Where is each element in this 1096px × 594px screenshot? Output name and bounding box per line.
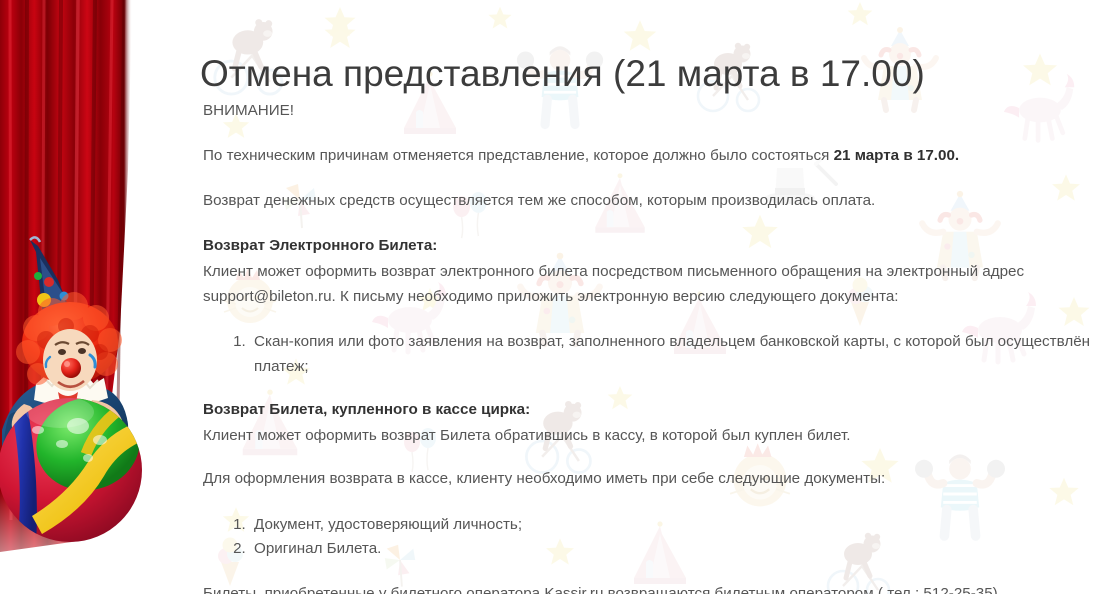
- cancellation-notice-page: Отмена представления (21 марта в 17.00) …: [0, 0, 1096, 594]
- list-item: Скан-копия или фото заявления на возврат…: [250, 329, 1096, 379]
- intro-date-bold: 21 марта в 17.00.: [834, 147, 960, 164]
- eticket-section-body: Клиент может оформить возврат электронно…: [203, 259, 1096, 309]
- page-title: Отмена представления (21 марта в 17.00): [200, 51, 1096, 97]
- intro-text: По техническим причинам отменяется предс…: [203, 147, 834, 164]
- boxoffice-document-list: Документ, удостоверяющий личность; Ориги…: [203, 513, 1096, 561]
- eticket-body-line-2: support@bileton.ru. К письму необходимо …: [203, 288, 899, 305]
- eticket-document-list: Скан-копия или фото заявления на возврат…: [203, 329, 1096, 379]
- intro-paragraph: По техническим причинам отменяется предс…: [203, 145, 1096, 167]
- eticket-body-line-1: Клиент может оформить возврат электронно…: [203, 263, 1024, 280]
- list-item: Документ, удостоверяющий личность;: [250, 513, 1096, 537]
- boxoffice-section-body: Клиент может оформить возврат Билета обр…: [203, 423, 1096, 448]
- boxoffice-section-heading: Возврат Билета, купленного в кассе цирка…: [203, 399, 1096, 421]
- operator-note: Билеты, приобретенные у билетного операт…: [203, 583, 1096, 594]
- notice-body: ВНИМАНИЕ! По техническим причинам отменя…: [203, 100, 1096, 594]
- boxoffice-body-line-1: Клиент может оформить возврат Билета обр…: [203, 427, 850, 444]
- eticket-section-heading: Возврат Электронного Билета:: [203, 235, 1096, 257]
- boxoffice-documents-intro: Для оформления возврата в кассе, клиенту…: [203, 468, 1096, 490]
- notice-content: Отмена представления (21 марта в 17.00) …: [0, 0, 1096, 594]
- refund-method-paragraph: Возврат денежных средств осуществляется …: [203, 190, 1096, 212]
- list-item: Оригинал Билета.: [250, 537, 1096, 561]
- attention-label: ВНИМАНИЕ!: [203, 100, 1096, 122]
